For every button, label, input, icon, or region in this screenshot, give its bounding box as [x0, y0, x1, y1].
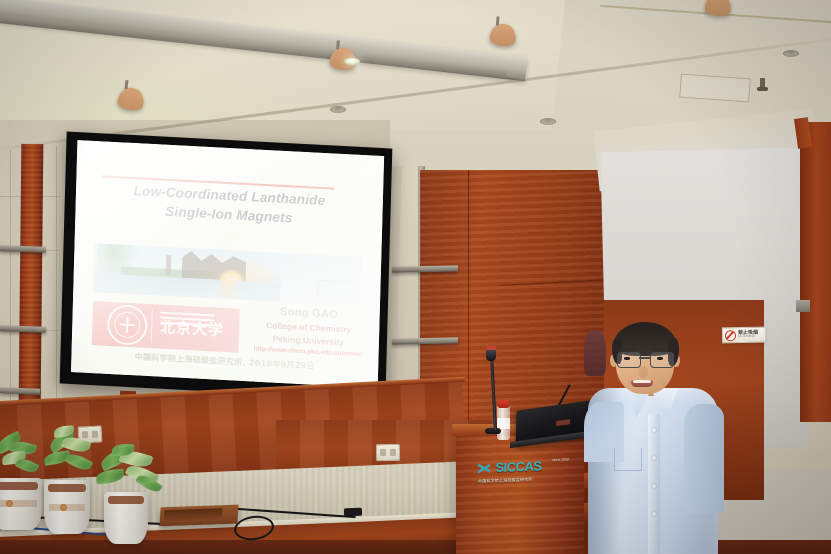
eyeglass-bridge: [639, 357, 651, 359]
plant-pot: [104, 492, 148, 544]
siccas-mark-icon: [478, 461, 490, 475]
eyeglass-lens: [650, 352, 674, 368]
cable-trough: [159, 505, 238, 527]
wood-grain: [456, 430, 588, 554]
panel-seam: [468, 170, 469, 460]
plant-pot: [0, 478, 42, 530]
ceiling-access-panel: [679, 74, 751, 103]
lectern: [456, 430, 588, 554]
shirt-button: [652, 428, 656, 432]
siccas-logo-tiny-text: since 1928: [552, 457, 569, 462]
wall-shelf-strip: [392, 265, 458, 272]
panel-seam: [10, 150, 11, 400]
water-bottle-cap[interactable]: [498, 400, 509, 408]
eye: [624, 357, 630, 360]
shirt-sleeve: [684, 404, 724, 514]
tower-silhouette: [166, 255, 172, 276]
no-smoking-icon: [725, 330, 736, 341]
cable-trough-cavity: [164, 508, 223, 522]
shirt-button: [652, 484, 656, 488]
seal-glyph: [119, 317, 135, 334]
no-smoking-sign-subtitle: NO SMOKING: [738, 336, 758, 339]
slide-photo-banner: [93, 243, 361, 306]
pot-flower-motif: [60, 504, 67, 511]
pot-flower-motif: [6, 500, 13, 507]
peking-university-seal-icon: [106, 304, 147, 346]
sprinkler-icon: [760, 78, 765, 90]
projection-screen[interactable]: Low-Coordinated Lanthanide Single-Ion Ma…: [60, 132, 393, 401]
downlight-icon: [783, 50, 799, 57]
logo-divider: [151, 310, 153, 344]
bench: [317, 280, 355, 299]
no-smoking-sign: 禁止吸烟 NO SMOKING: [722, 327, 766, 344]
siccas-logo-text: SICCAS: [495, 459, 541, 476]
nose: [638, 366, 648, 378]
pku-logo-block: 北京大学: [92, 301, 240, 353]
microphone-indicator-ring: [486, 346, 496, 350]
downlight-icon: [330, 106, 346, 113]
right-wood-column: [800, 122, 831, 422]
wall-shelf-strip: [392, 337, 458, 344]
teeth: [633, 380, 651, 383]
shirt-pocket: [614, 448, 642, 471]
presentation-slide: Low-Coordinated Lanthanide Single-Ion Ma…: [71, 140, 384, 388]
plant-pot: [44, 480, 90, 534]
pku-wordmark: 北京大学: [160, 316, 225, 340]
floor-cable-box: [344, 508, 362, 517]
metal-reveal-strip: [796, 300, 810, 312]
wall-outlet[interactable]: [376, 444, 400, 461]
slide-speaker-info: Song GAO College of Chemistry Peking Uni…: [244, 304, 374, 358]
lecture-hall-photo: 禁止吸烟 NO SMOKING Low-Coordinated Lanthani…: [0, 0, 831, 554]
speaker-person: [588, 316, 718, 554]
shirt-button: [652, 512, 656, 516]
downlight-icon: [540, 118, 556, 125]
wood-pilaster: [19, 144, 44, 402]
eye: [657, 357, 663, 360]
eyeglass-lens: [617, 352, 641, 368]
panel-seam: [56, 146, 57, 401]
sun-reflection: [221, 280, 235, 299]
eyeglasses: [615, 352, 675, 367]
shirt-button: [652, 456, 656, 460]
siccas-logo: SICCAS since 1928 中国科学院上海硅酸盐研究所: [478, 456, 570, 484]
downlight-icon: [344, 58, 360, 65]
wood-grain: [19, 144, 44, 402]
projection-screen-surface: Low-Coordinated Lanthanide Single-Ion Ma…: [71, 140, 384, 388]
laptop-logo: [556, 419, 570, 426]
